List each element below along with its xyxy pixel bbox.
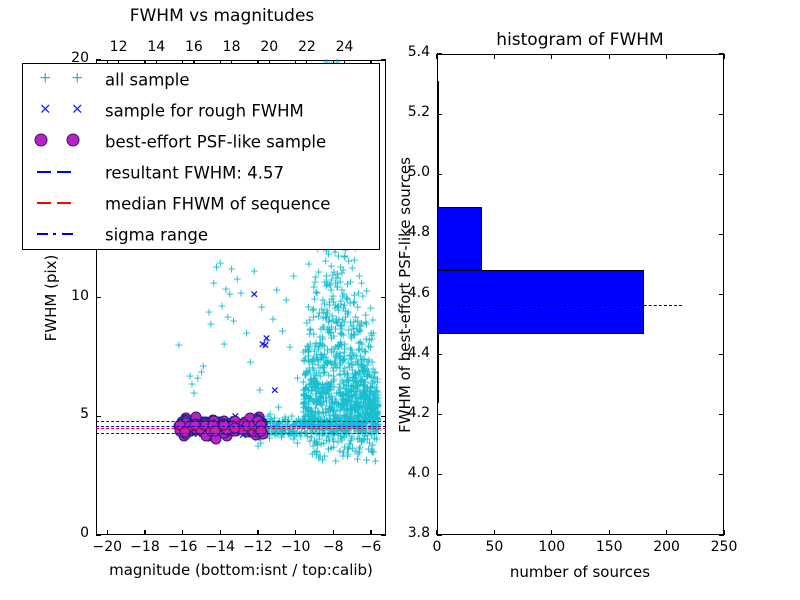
legend-sample-cross: ×× <box>23 95 99 123</box>
histogram-ytick-label: 3.8 <box>408 525 430 541</box>
legend-marker-dash <box>37 202 51 204</box>
scatter-xtick-label: −16 <box>168 539 198 555</box>
legend-marker-plus: + <box>71 71 84 86</box>
histogram-ytick-label: 5.2 <box>408 104 430 120</box>
histogram-xtick-label: 250 <box>711 539 738 555</box>
scatter-top-tick-label: 14 <box>147 39 165 55</box>
legend-row[interactable]: ××sample for rough FWHM <box>23 95 379 126</box>
legend-marker-circle <box>67 134 80 147</box>
scatter-legend[interactable]: ++all sample××sample for rough FWHMbest-… <box>22 63 380 250</box>
legend-marker-dash <box>57 171 71 173</box>
scatter-xtick-label: −20 <box>93 539 123 555</box>
scatter-ytick-label: 5 <box>80 406 89 422</box>
histogram-xtick-label: 50 <box>485 539 503 555</box>
histogram-ytick-label: 4.4 <box>408 345 430 361</box>
legend-marker-dash <box>57 202 71 204</box>
scatter-top-tick-label: 16 <box>185 39 203 55</box>
legend-label: median FHWM of sequence <box>105 195 330 214</box>
histogram-ytick-label: 5.0 <box>408 164 430 180</box>
legend-row[interactable]: median FHWM of sequence <box>23 189 379 220</box>
legend-marker-dashdot <box>53 233 56 235</box>
legend-label: best-effort PSF-like sample <box>105 132 326 151</box>
legend-sample-dashed-line <box>23 158 99 186</box>
histogram-ytick-label: 5.4 <box>408 44 430 60</box>
scatter-xtick-label: −12 <box>243 539 273 555</box>
legend-label: resultant FWHM: 4.57 <box>105 164 284 183</box>
legend-sample-dashdot-line <box>23 220 99 248</box>
histogram-plot-frame <box>437 54 724 535</box>
scatter-xtick-label: −6 <box>361 539 382 555</box>
histogram-xtick-label: 150 <box>596 539 623 555</box>
scatter-top-tick-label: 24 <box>336 39 354 55</box>
histogram-xtick-label: 0 <box>433 539 442 555</box>
histogram-title: histogram of FWHM <box>496 30 663 50</box>
legend-marker-dashdot <box>37 233 48 235</box>
histogram-ytick-label: 4.8 <box>408 224 430 240</box>
scatter-xtick-label: −10 <box>281 539 311 555</box>
histogram-xlabel: number of sources <box>510 563 650 581</box>
legend-marker-dash <box>37 171 51 173</box>
histogram-ytick-label: 4.6 <box>408 285 430 301</box>
legend-row[interactable]: resultant FWHM: 4.57 <box>23 158 379 189</box>
scatter-xtick-label: −8 <box>323 539 344 555</box>
legend-marker-cross: × <box>71 102 84 117</box>
scatter-top-tick-label: 18 <box>223 39 241 55</box>
legend-marker-cross: × <box>39 102 52 117</box>
scatter-title: FWHM vs magnitudes <box>130 6 315 26</box>
scatter-xlabel: magnitude (bottom:isnt / top:calib) <box>109 561 373 579</box>
scatter-top-tick-label: 22 <box>298 39 316 55</box>
histogram-ytick-label: 4.2 <box>408 405 430 421</box>
scatter-ylabel: FWHM (pix) <box>42 255 60 342</box>
legend-label: sigma range <box>105 226 208 245</box>
figure-canvas: FWHM vs magnitudes +++++++++++++++++++++… <box>0 0 800 600</box>
legend-marker-plus: + <box>39 71 52 86</box>
scatter-ytick-label: 10 <box>71 288 89 304</box>
scatter-xtick-label: −14 <box>206 539 236 555</box>
scatter-xtick-label: −18 <box>130 539 160 555</box>
legend-row[interactable]: sigma range <box>23 220 379 251</box>
legend-marker-circle <box>35 134 48 147</box>
scatter-ytick-label: 0 <box>80 525 89 541</box>
legend-marker-dashdot <box>62 233 73 235</box>
legend-label: all sample <box>105 70 190 89</box>
legend-row[interactable]: best-effort PSF-like sample <box>23 126 379 157</box>
scatter-top-tick-label: 20 <box>260 39 278 55</box>
legend-row[interactable]: ++all sample <box>23 64 379 95</box>
histogram-xtick-label: 200 <box>653 539 680 555</box>
histogram-ytick-label: 4.0 <box>408 465 430 481</box>
scatter-top-tick-label: 12 <box>110 39 128 55</box>
legend-label: sample for rough FWHM <box>105 101 304 120</box>
legend-sample-circle <box>23 126 99 154</box>
legend-sample-plus: ++ <box>23 64 99 92</box>
legend-sample-dashed-line <box>23 189 99 217</box>
histogram-xtick-label: 100 <box>538 539 565 555</box>
